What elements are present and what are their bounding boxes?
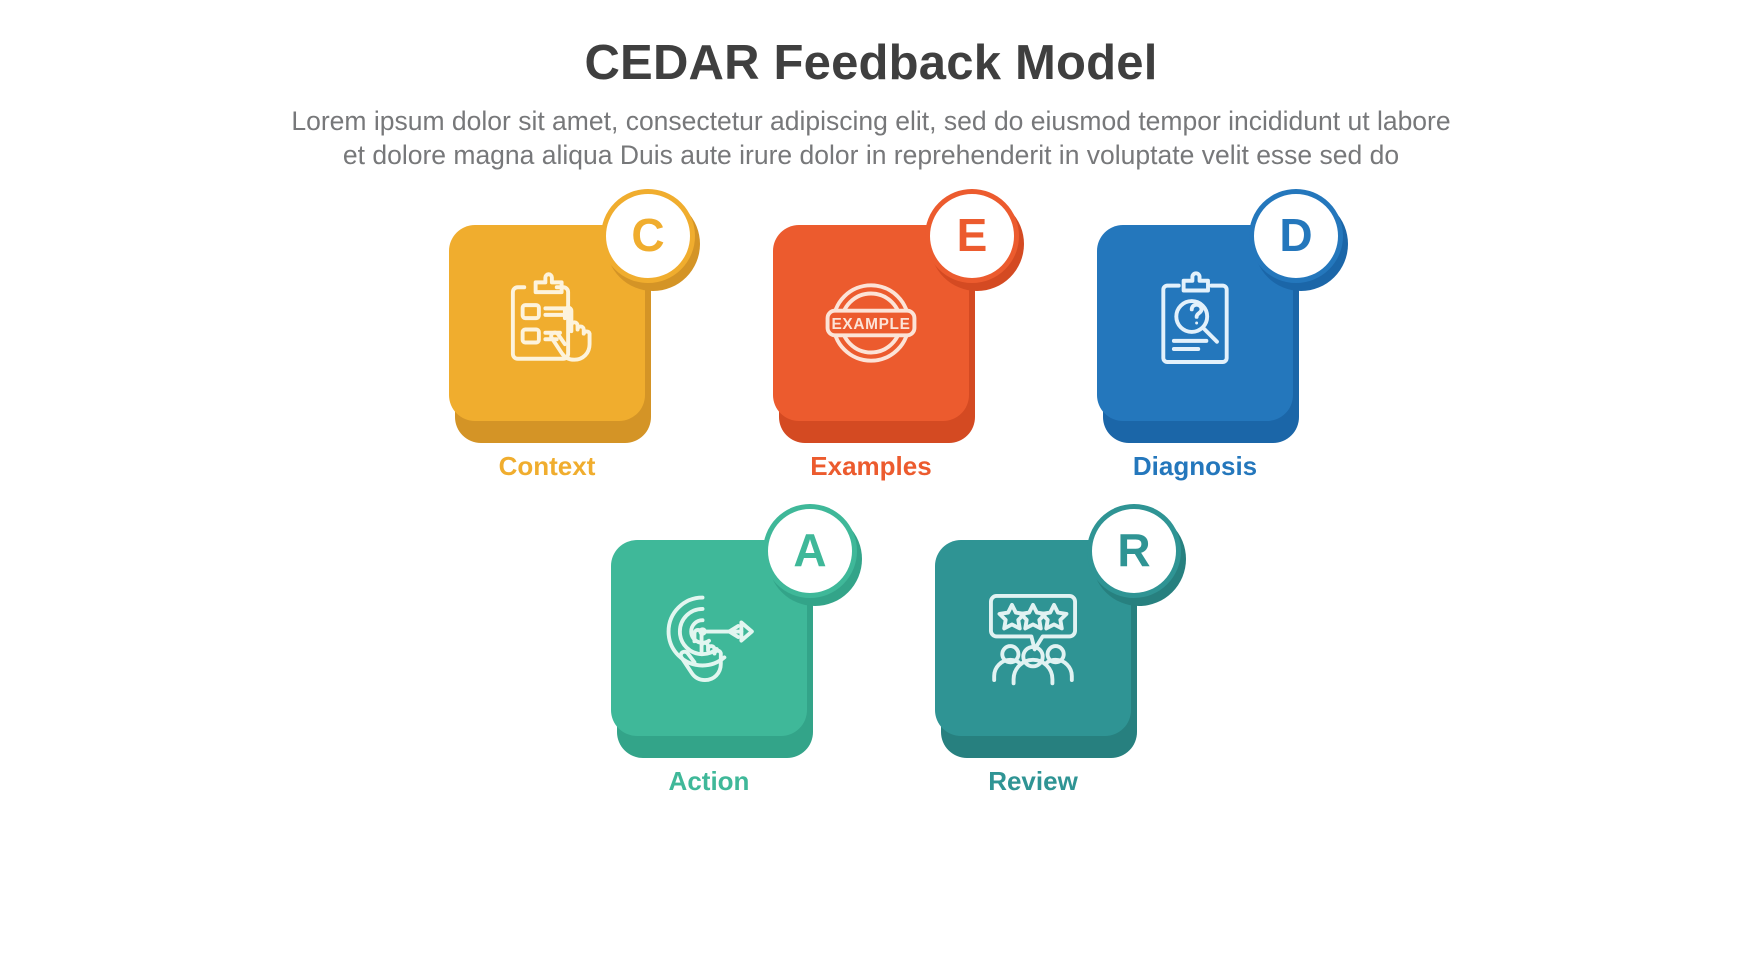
card-action[interactable]: A Action <box>611 540 807 797</box>
subtitle-line-2: et dolore magna aliqua Duis aute irure d… <box>161 139 1581 173</box>
card-label-review: Review <box>988 766 1078 797</box>
card-label-diagnosis: Diagnosis <box>1133 451 1257 482</box>
badge-circle: D <box>1249 189 1343 283</box>
card-row-bottom: A Action <box>0 540 1742 797</box>
clipboard-magnifier-question-icon <box>1143 271 1247 375</box>
card-review[interactable]: R Review <box>935 540 1131 797</box>
badge-circle: E <box>925 189 1019 283</box>
subtitle-line-1: Lorem ipsum dolor sit amet, consectetur … <box>161 105 1581 139</box>
badge-circle: R <box>1087 504 1181 598</box>
card-examples[interactable]: EXAMPLE E Examples <box>773 225 969 482</box>
badge-e: E <box>925 189 1019 283</box>
badge-letter: C <box>631 212 664 258</box>
card-label-examples: Examples <box>810 451 931 482</box>
card-context[interactable]: C Context <box>449 225 645 482</box>
badge-d: D <box>1249 189 1343 283</box>
clipboard-hand-icon <box>495 271 599 375</box>
badge-circle: A <box>763 504 857 598</box>
card-context-visual: C <box>449 225 645 421</box>
badge-letter: E <box>957 212 988 258</box>
header: CEDAR Feedback Model Lorem ipsum dolor s… <box>0 36 1742 173</box>
card-examples-visual: EXAMPLE E <box>773 225 969 421</box>
card-diagnosis[interactable]: D Diagnosis <box>1097 225 1293 482</box>
badge-a: A <box>763 504 857 598</box>
badge-letter: D <box>1279 212 1312 258</box>
page-subtitle: Lorem ipsum dolor sit amet, consectetur … <box>161 105 1581 173</box>
badge-letter: A <box>793 527 826 573</box>
example-stamp-icon: EXAMPLE <box>812 264 930 382</box>
page-title: CEDAR Feedback Model <box>0 36 1742 91</box>
star-rating-people-icon <box>978 583 1088 693</box>
card-review-visual: R <box>935 540 1131 736</box>
card-action-visual: A <box>611 540 807 736</box>
badge-circle: C <box>601 189 695 283</box>
badge-c: C <box>601 189 695 283</box>
card-label-action: Action <box>669 766 750 797</box>
svg-text:EXAMPLE: EXAMPLE <box>832 316 911 333</box>
target-arrow-hand-icon <box>654 583 764 693</box>
card-row-top: C Context EXAMPLE <box>0 225 1742 482</box>
card-label-context: Context <box>499 451 596 482</box>
infographic-page: CEDAR Feedback Model Lorem ipsum dolor s… <box>0 0 1742 980</box>
badge-r: R <box>1087 504 1181 598</box>
badge-letter: R <box>1117 527 1150 573</box>
card-diagnosis-visual: D <box>1097 225 1293 421</box>
